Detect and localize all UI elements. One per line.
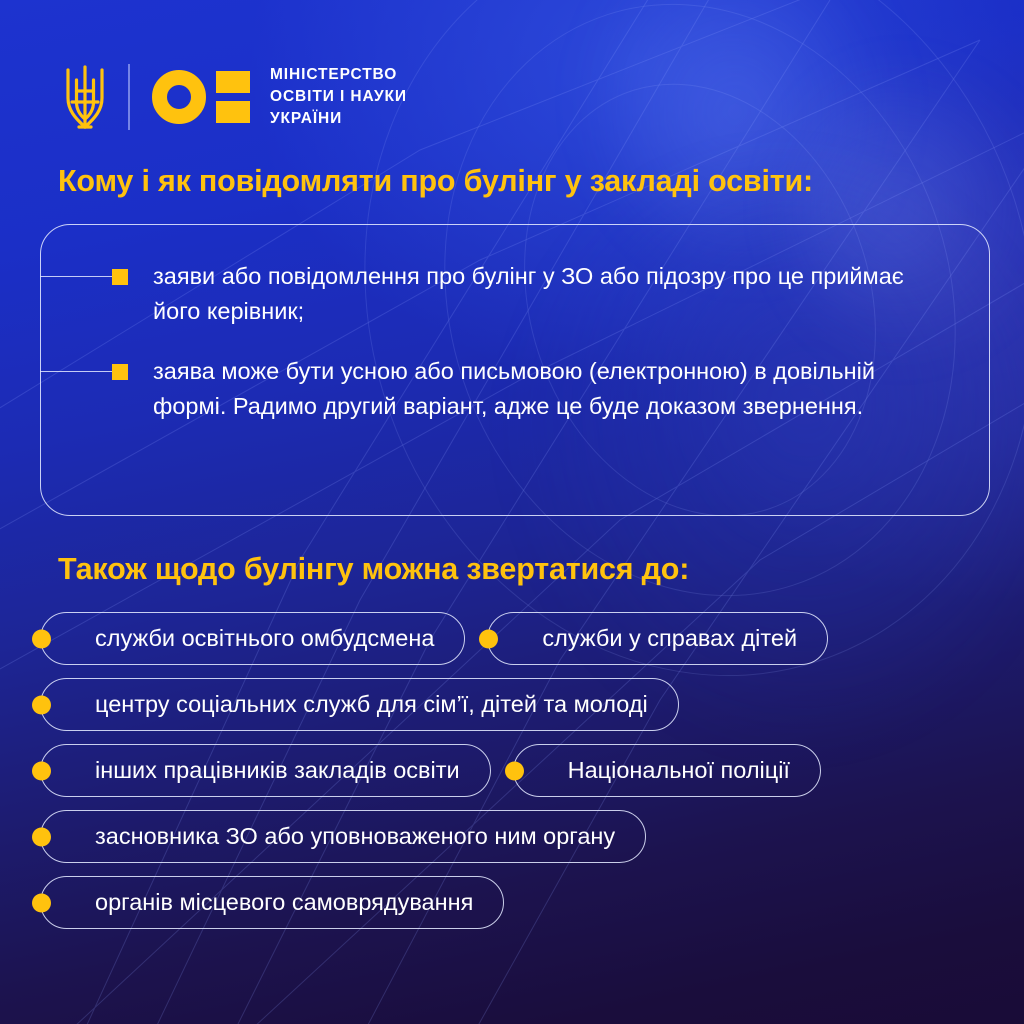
ministry-name: МІНІСТЕРСТВО ОСВІТИ І НАУКИ УКРАЇНИ xyxy=(270,64,407,130)
ministry-line-1: МІНІСТЕРСТВО xyxy=(270,64,407,86)
bullet-square-icon xyxy=(112,269,128,285)
bullet-text: заява може бути усною або письмовою (еле… xyxy=(153,358,875,419)
chip-local-self-government[interactable]: органів місцевого самоврядування xyxy=(40,876,504,929)
logo-bar: МІНІСТЕРСТВО ОСВІТИ І НАУКИ УКРАЇНИ xyxy=(62,56,407,138)
bullet-list: заяви або повідомлення про булінг у ЗО а… xyxy=(41,225,989,515)
heading-report-bullying: Кому і як повідомляти про булінг у закла… xyxy=(58,164,813,199)
chip-label: Національної поліції xyxy=(568,757,790,784)
logo-o-ring-icon xyxy=(152,70,206,124)
ministry-line-3: УКРАЇНИ xyxy=(270,108,407,130)
chip-row: центру соціальних служб для сім’ї, дітей… xyxy=(40,678,1000,731)
bullet-dot-icon xyxy=(32,695,51,714)
chip-education-ombudsman[interactable]: служби освітнього омбудсмена xyxy=(40,612,465,665)
bullet-dot-icon xyxy=(32,893,51,912)
chip-label: засновника ЗО або уповноваженого ним орг… xyxy=(95,823,615,850)
chip-childrens-affairs-service[interactable]: служби у справах дітей xyxy=(487,612,828,665)
ministry-line-2: ОСВІТИ І НАУКИ xyxy=(270,86,407,108)
infographic-poster: МІНІСТЕРСТВО ОСВІТИ І НАУКИ УКРАЇНИ Кому… xyxy=(0,0,1024,1024)
chip-row: служби освітнього омбудсмена служби у сп… xyxy=(40,612,1000,665)
chip-school-founder[interactable]: засновника ЗО або уповноваженого ним орг… xyxy=(40,810,646,863)
heading-where-to-turn: Також щодо булінгу можна звертатися до: xyxy=(58,552,689,587)
chip-row: інших працівників закладів освіти Націон… xyxy=(40,744,1000,797)
background-photo-silhouette xyxy=(600,0,900,260)
chip-label: служби у справах дітей xyxy=(542,625,797,652)
chip-label: центру соціальних служб для сім’ї, дітей… xyxy=(95,691,648,718)
chip-row: засновника ЗО або уповноваженого ним орг… xyxy=(40,810,1000,863)
info-card: заяви або повідомлення про булінг у ЗО а… xyxy=(40,224,990,516)
chip-other-school-staff[interactable]: інших працівників закладів освіти xyxy=(40,744,491,797)
chip-national-police[interactable]: Національної поліції xyxy=(513,744,821,797)
list-item: заяви або повідомлення про булінг у ЗО а… xyxy=(41,259,949,328)
bullet-dot-icon xyxy=(479,629,498,648)
chip-label: служби освітнього омбудсмена xyxy=(95,625,434,652)
bullet-text: заяви або повідомлення про булінг у ЗО а… xyxy=(153,263,904,324)
ukraine-trident-icon xyxy=(62,58,108,136)
chip-label: органів місцевого самоврядування xyxy=(95,889,473,916)
bullet-dot-icon xyxy=(32,827,51,846)
chip-social-services-center[interactable]: центру соціальних служб для сім’ї, дітей… xyxy=(40,678,679,731)
bullet-dot-icon xyxy=(32,629,51,648)
authority-chip-list: служби освітнього омбудсмена служби у сп… xyxy=(40,612,1000,942)
chip-row: органів місцевого самоврядування xyxy=(40,876,1000,929)
mon-logo-mark-icon xyxy=(152,70,250,124)
bullet-dot-icon xyxy=(32,761,51,780)
list-item: заява може бути усною або письмовою (еле… xyxy=(41,354,949,423)
logo-equals-icon xyxy=(216,71,250,123)
logo-divider xyxy=(128,64,130,130)
bullet-square-icon xyxy=(112,364,128,380)
bullet-dot-icon xyxy=(505,761,524,780)
chip-label: інших працівників закладів освіти xyxy=(95,757,460,784)
